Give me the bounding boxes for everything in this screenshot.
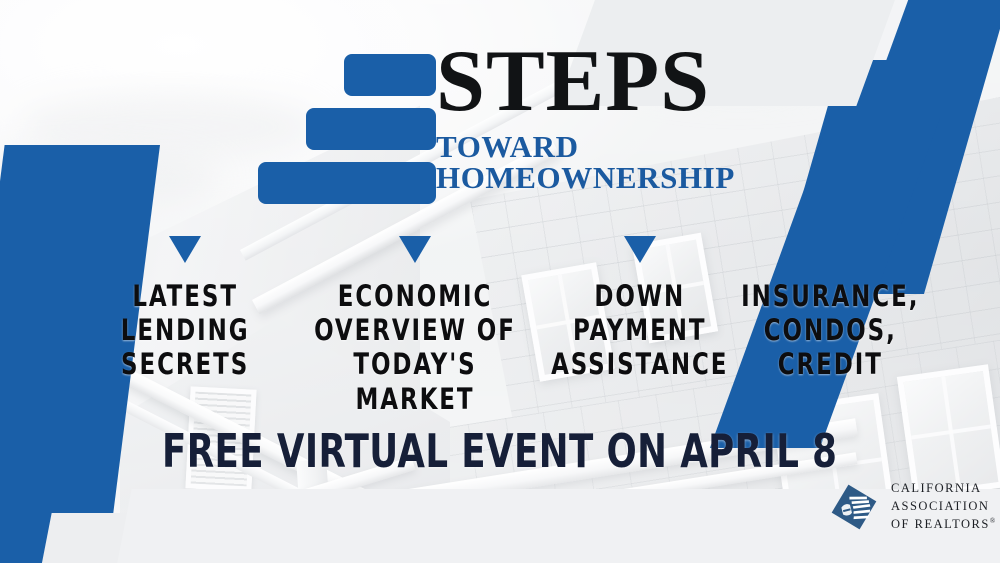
logo-subtitle-line1: TOWARD bbox=[436, 131, 766, 164]
step-bar-middle bbox=[306, 108, 436, 150]
pillar-label: DOWN PAYMENT ASSISTANCE bbox=[551, 279, 728, 382]
car-line-california: CALIFORNIA bbox=[891, 480, 995, 498]
pillar-insurance-condos-credit: INSURANCE, CONDOS, CREDIT bbox=[740, 236, 920, 382]
step-bar-bottom bbox=[258, 162, 436, 204]
logo-title: STEPS bbox=[436, 38, 766, 126]
stair-step-bars-icon bbox=[258, 52, 436, 204]
registered-mark: ® bbox=[990, 516, 995, 524]
car-diamond-mark-icon bbox=[828, 481, 880, 533]
step-bar-top bbox=[344, 54, 436, 96]
triangle-down-icon bbox=[169, 236, 201, 263]
promotional-poster: STEPS TOWARD HOMEOWNERSHIP LATEST LENDIN… bbox=[0, 0, 1000, 563]
triangle-down-icon bbox=[399, 236, 431, 263]
california-association-of-realtors-logo: CALIFORNIA ASSOCIATION OF REALTORS® bbox=[828, 480, 995, 533]
car-line-of-realtors: OF REALTORS® bbox=[891, 516, 995, 534]
pillar-label: INSURANCE, CONDOS, CREDIT bbox=[741, 279, 919, 382]
logo-subtitle-line2: HOMEOWNERSHIP bbox=[436, 162, 766, 195]
car-logo-text: CALIFORNIA ASSOCIATION OF REALTORS® bbox=[891, 480, 995, 533]
steps-logo: STEPS TOWARD HOMEOWNERSHIP bbox=[258, 52, 758, 212]
steps-wordmark: STEPS TOWARD HOMEOWNERSHIP bbox=[436, 38, 766, 195]
triangle-down-icon bbox=[814, 236, 846, 263]
event-headline: FREE VIRTUAL EVENT ON APRIL 8 bbox=[162, 424, 837, 478]
pillar-label: ECONOMIC OVERVIEW OF TODAY'S MARKET bbox=[305, 279, 525, 416]
pillar-label: LATEST LENDING SECRETS bbox=[121, 279, 250, 382]
pillar-economic-overview: ECONOMIC OVERVIEW OF TODAY'S MARKET bbox=[290, 236, 540, 416]
pillar-latest-lending-secrets: LATEST LENDING SECRETS bbox=[90, 236, 280, 382]
topic-pillars: LATEST LENDING SECRETS ECONOMIC OVERVIEW… bbox=[90, 236, 920, 416]
event-headline-row: FREE VIRTUAL EVENT ON APRIL 8 bbox=[0, 424, 1000, 478]
car-line-association: ASSOCIATION bbox=[891, 498, 995, 516]
pillar-down-payment-assistance: DOWN PAYMENT ASSISTANCE bbox=[550, 236, 730, 382]
triangle-down-icon bbox=[624, 236, 656, 263]
